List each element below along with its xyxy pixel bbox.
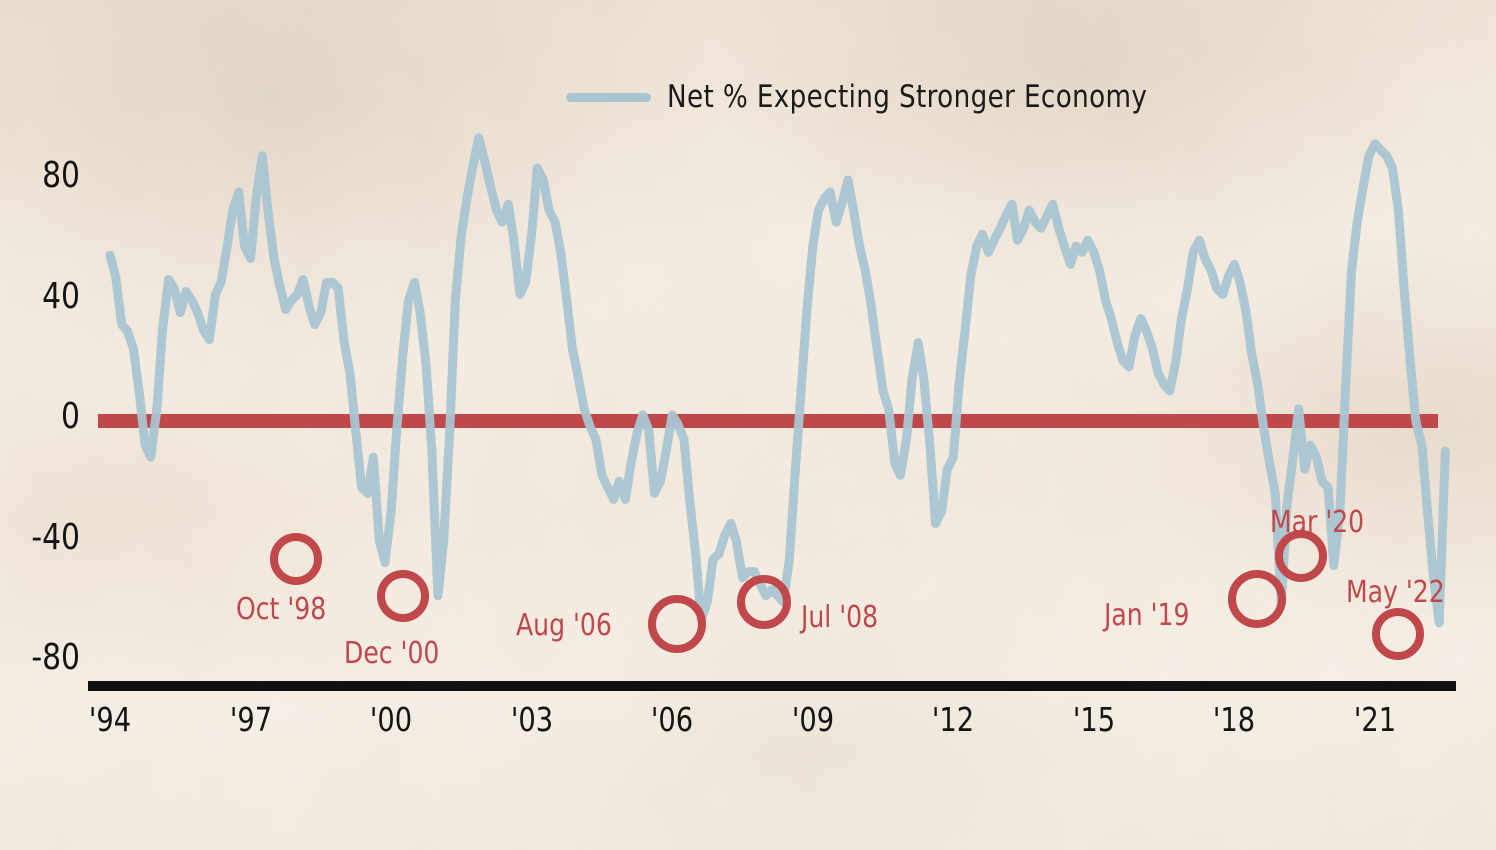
x-tick-2000: '00 (341, 700, 442, 739)
x-tick-2021: '21 (1324, 700, 1425, 739)
annotation-ring-oct-98 (270, 533, 322, 585)
annotation-label-jan-19: Jan '19 (1104, 598, 1189, 633)
annotation-ring-aug-06 (648, 595, 706, 653)
annotation-ring-jul-08 (737, 575, 791, 629)
y-tick-0: 0 (6, 396, 80, 437)
annotation-label-dec-00: Dec '00 (344, 636, 439, 671)
x-tick-2003: '03 (481, 700, 582, 739)
x-tick-2018: '18 (1184, 700, 1285, 739)
y-tick-neg80: -80 (6, 637, 80, 678)
x-tick-1997: '97 (200, 700, 301, 739)
x-tick-2012: '12 (903, 700, 1004, 739)
y-tick-40: 40 (6, 276, 80, 317)
annotation-ring-may-22 (1372, 608, 1424, 660)
y-tick-80: 80 (6, 155, 80, 196)
annotation-label-aug-06: Aug '06 (516, 608, 612, 643)
zero-reference-line (98, 414, 1438, 428)
annotation-label-mar-20: Mar '20 (1270, 505, 1364, 540)
annotation-label-jul-08: Jul '08 (801, 600, 878, 635)
x-tick-1994: '94 (59, 700, 160, 739)
x-tick-2009: '09 (762, 700, 863, 739)
annotation-label-oct-98: Oct '98 (236, 592, 326, 627)
annotation-ring-dec-00 (377, 570, 429, 622)
x-tick-2015: '15 (1043, 700, 1144, 739)
y-tick-neg40: -40 (6, 517, 80, 558)
x-tick-2006: '06 (622, 700, 723, 739)
x-axis-baseline (88, 681, 1456, 691)
annotation-label-may-22: May '22 (1346, 575, 1445, 610)
chart-canvas: Net % Expecting Stronger Economy 80400-4… (0, 0, 1496, 850)
annotation-ring-jan-19 (1228, 570, 1286, 628)
